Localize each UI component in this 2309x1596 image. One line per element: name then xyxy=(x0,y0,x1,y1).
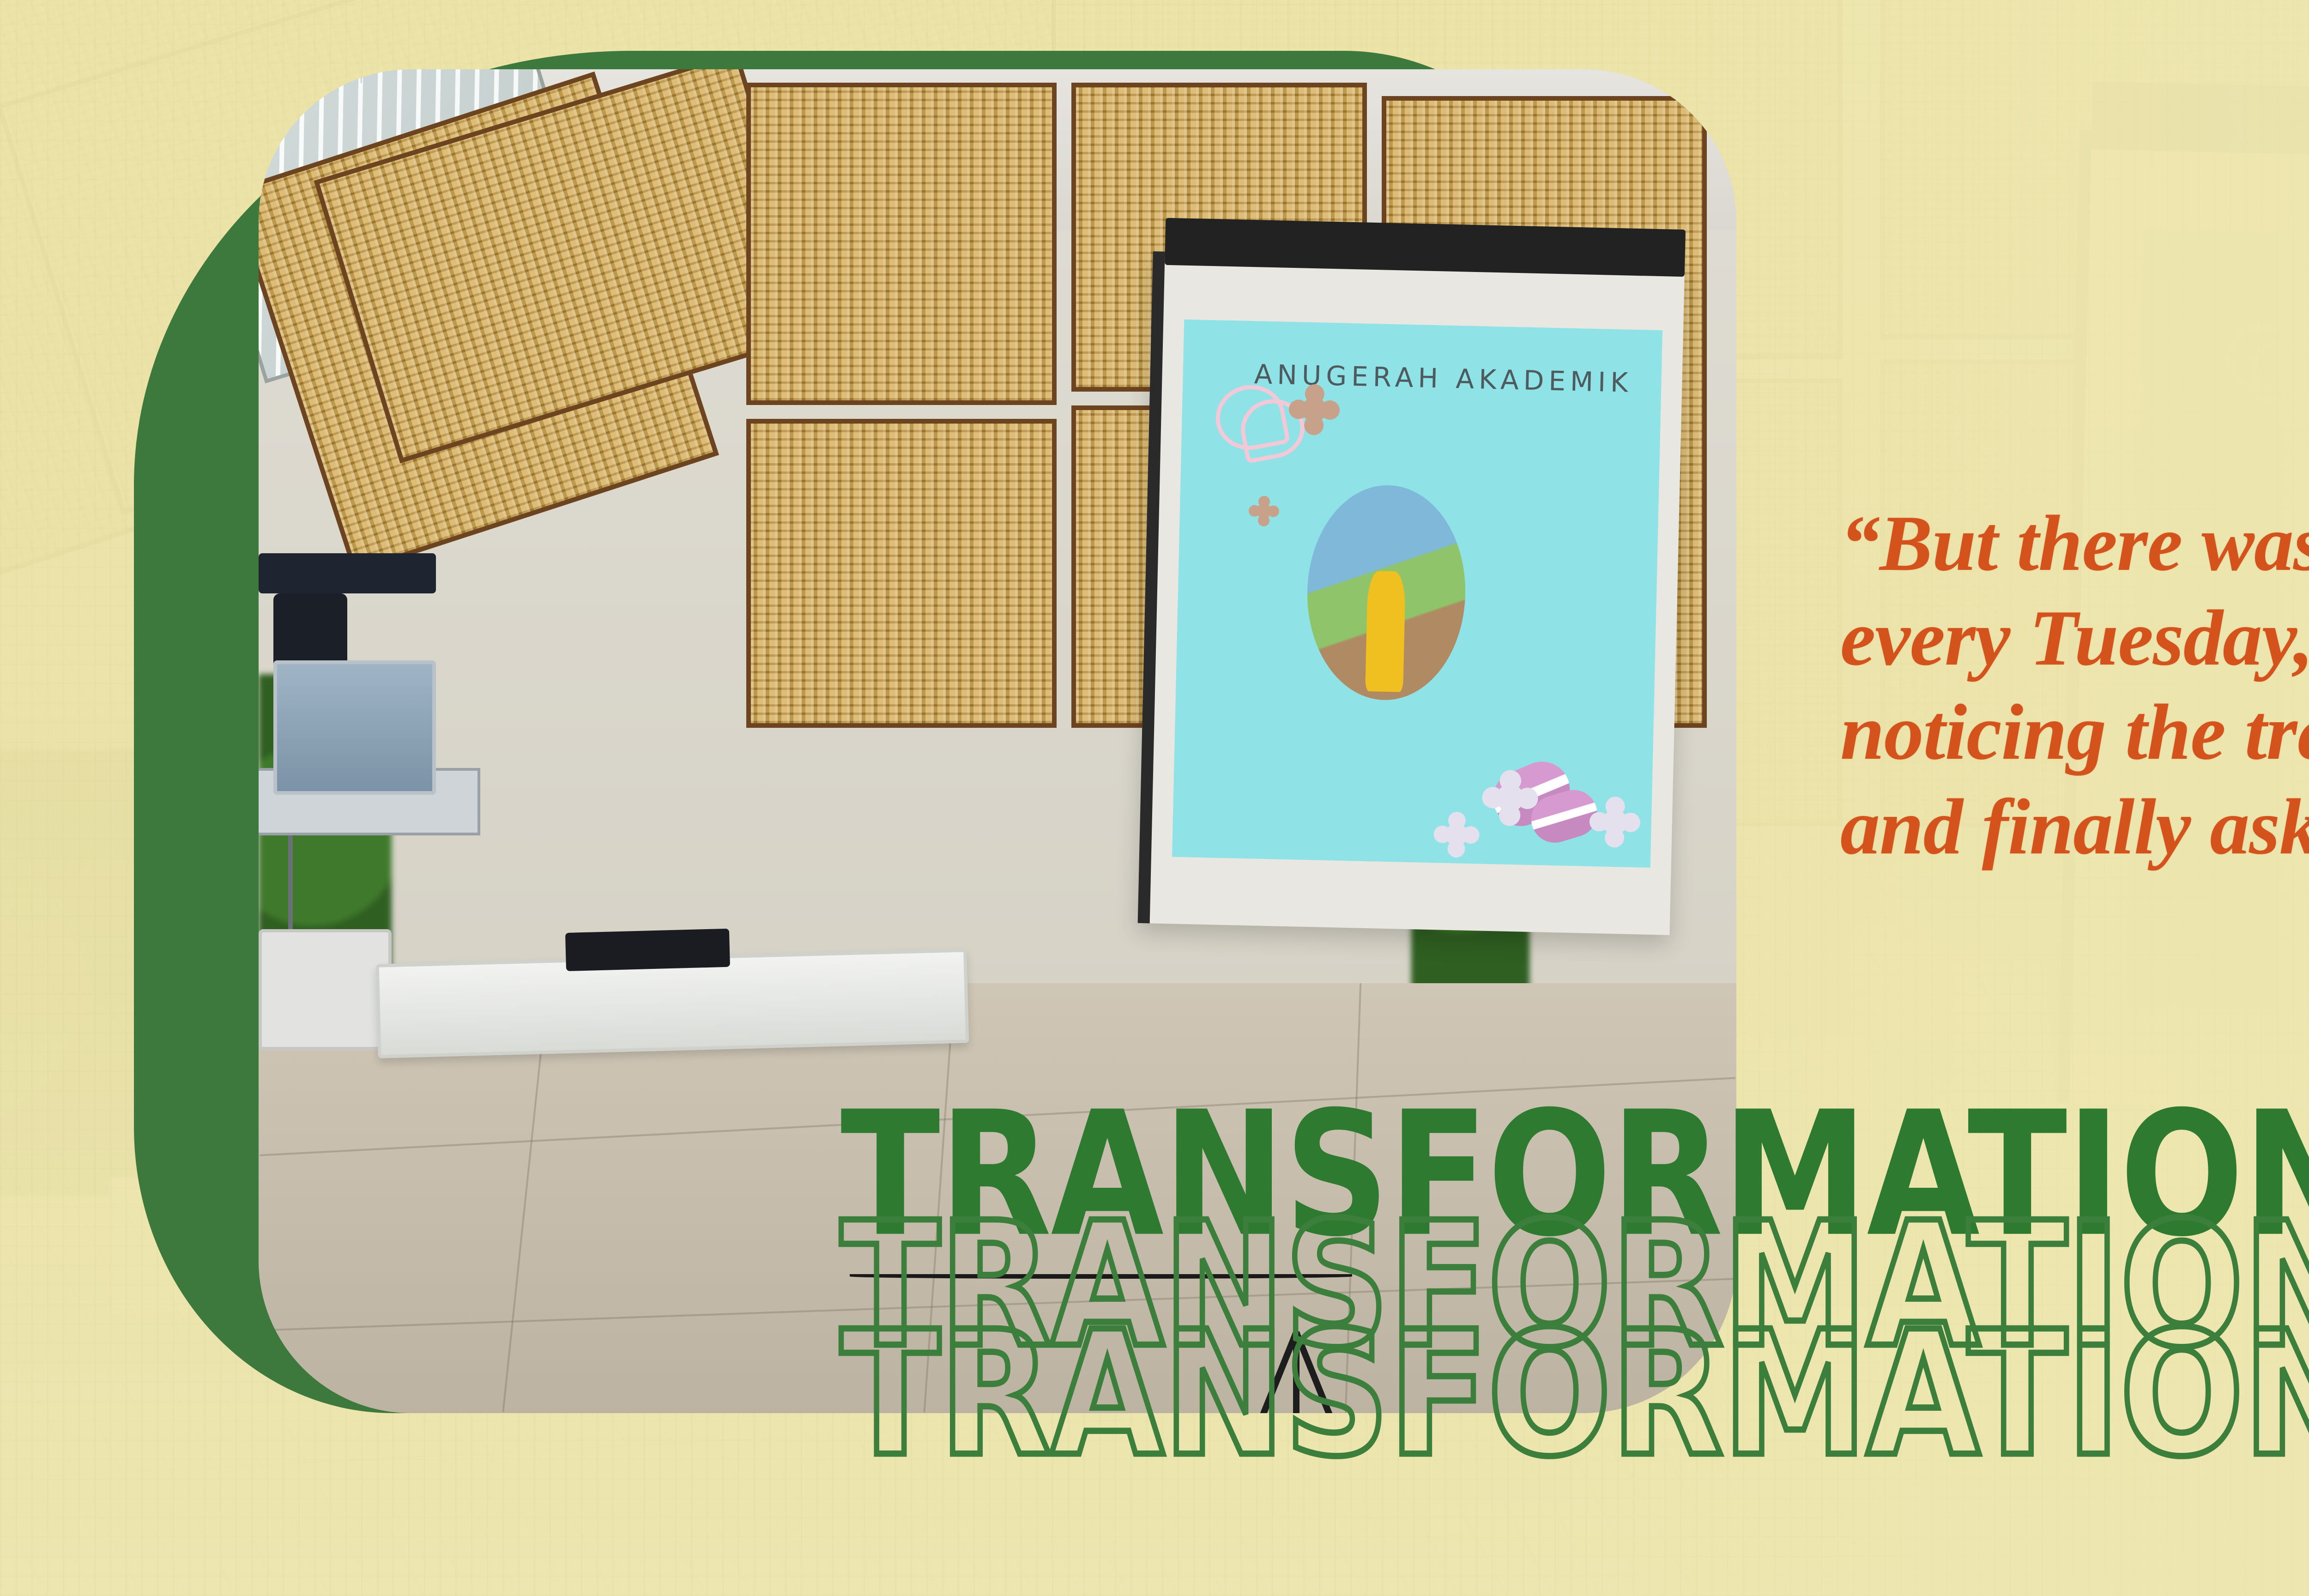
projector-screen: ANUGERAH AKADEMIK xyxy=(1138,252,1685,936)
poster-canvas: ANUGERAH AKADEMIK xyxy=(0,0,2309,1596)
presentation-slide: ANUGERAH AKADEMIK xyxy=(1172,320,1662,868)
flower-icon xyxy=(1602,810,1627,835)
slide-title: ANUGERAH AKADEMIK xyxy=(1254,359,1633,399)
ribbon-bow-icon xyxy=(1210,380,1290,456)
award-certificate xyxy=(376,949,969,1058)
slide-photo-circle xyxy=(1305,484,1467,702)
shirt-text: COMMUNITY xyxy=(259,69,368,87)
flower-icon xyxy=(1445,823,1469,846)
pull-quote: “But there was one consistent pattern: e… xyxy=(1840,496,2309,875)
cable xyxy=(850,1274,1352,1279)
flower-icon xyxy=(1301,397,1327,423)
flower-icon xyxy=(1257,503,1272,519)
feature-photo: ANUGERAH AKADEMIK xyxy=(259,69,1736,1413)
